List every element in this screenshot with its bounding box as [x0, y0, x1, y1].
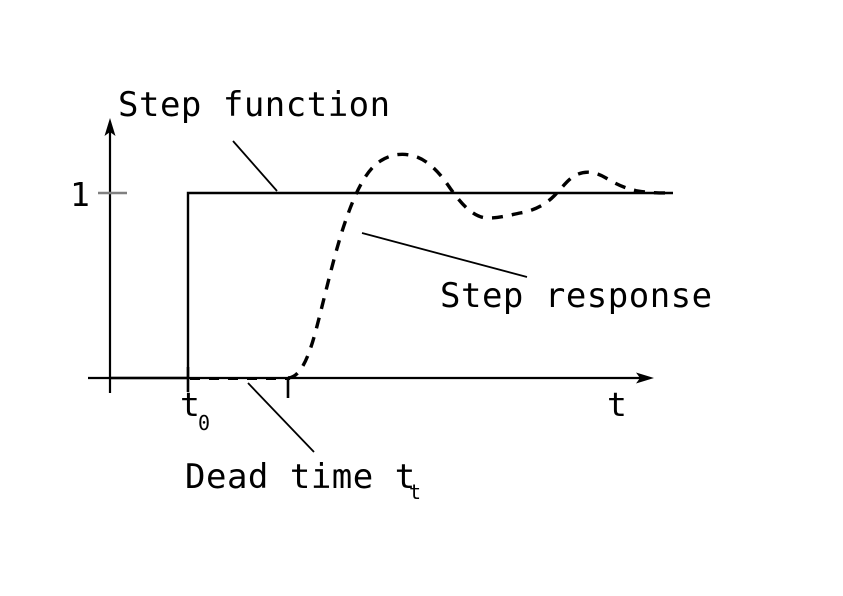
step-response-curve: [288, 154, 673, 378]
label-amplitude-one: 1: [70, 175, 90, 214]
leader-line-dead-time: [248, 383, 314, 452]
label-time-axis: t: [607, 385, 627, 424]
step-response-diagram: Step function Step response Dead time t …: [0, 0, 843, 596]
leader-line-step-response: [362, 233, 527, 277]
label-step-function: Step function: [118, 85, 391, 125]
step-response-curve-group: [288, 154, 673, 378]
text-labels-group: Step function Step response Dead time t …: [70, 85, 713, 504]
axes-group: [88, 118, 654, 398]
diagram-canvas: Step function Step response Dead time t …: [0, 0, 843, 596]
label-step-response: Step response: [440, 276, 713, 316]
label-dead-time-subscript: t: [409, 480, 421, 504]
label-t-zero-base: t: [180, 385, 200, 424]
label-t-zero-subscript: 0: [198, 411, 210, 435]
leader-line-step-function: [233, 141, 277, 191]
label-dead-time: Dead time t: [185, 457, 416, 497]
